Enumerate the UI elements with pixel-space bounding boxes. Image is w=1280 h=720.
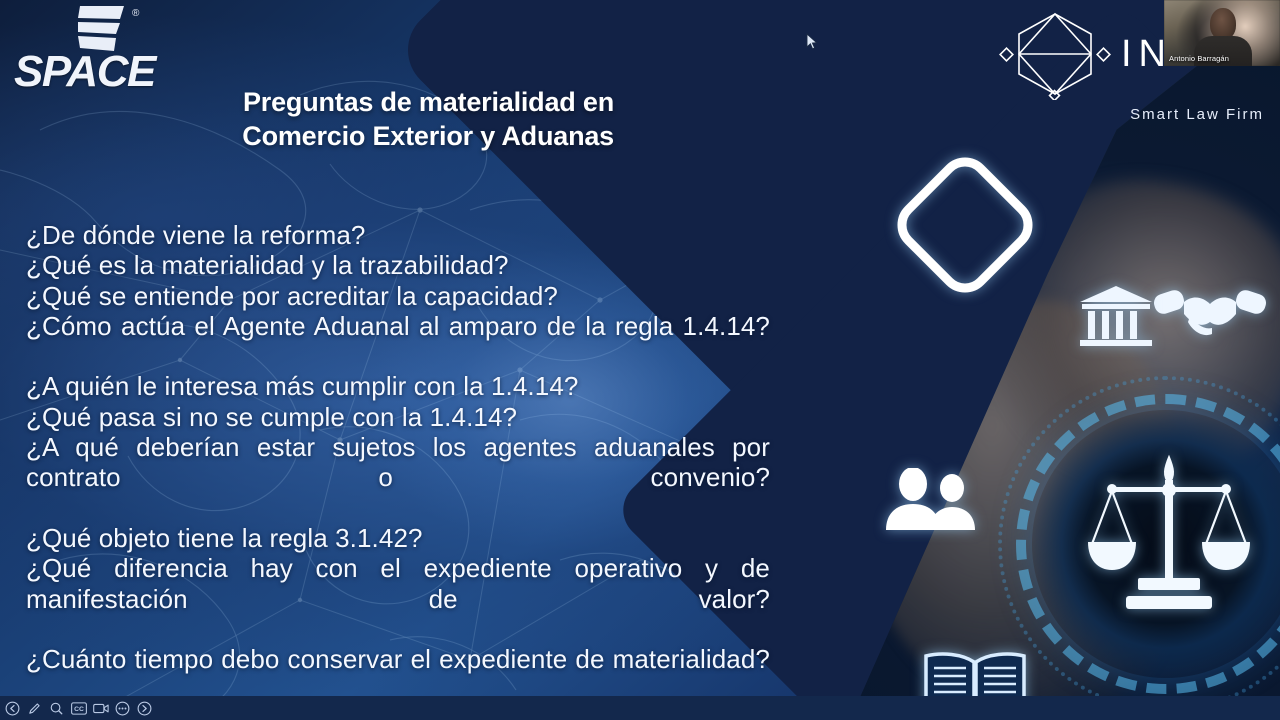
video-thumbnail[interactable]: Antonio Barragán	[1164, 0, 1280, 66]
brand-intra-tagline: Smart Law Firm	[1130, 106, 1264, 123]
scales-of-justice-icon	[1086, 450, 1252, 630]
next-slide-button[interactable]	[135, 699, 154, 718]
camera-icon	[93, 702, 109, 715]
participant-name-label: Antonio Barragán	[1169, 54, 1229, 63]
arrow-left-circle-icon	[5, 701, 20, 716]
page-title: Preguntas de materialidad en Comercio Ex…	[144, 86, 614, 154]
question-item: ¿A quién le interesa más cumplir con la …	[26, 371, 770, 401]
more-options-button[interactable]	[113, 699, 132, 718]
svg-text:®: ®	[132, 8, 140, 19]
zoom-button[interactable]	[47, 699, 66, 718]
magnifier-icon	[49, 701, 64, 716]
mouse-pointer	[806, 33, 818, 51]
previous-slide-button[interactable]	[3, 699, 22, 718]
hexagon-diamond-icon	[999, 8, 1111, 100]
annotate-button[interactable]	[25, 699, 44, 718]
question-item: ¿Qué pasa si no se cumple con la 1.4.14?	[26, 402, 770, 432]
rounded-diamond-outline-icon	[880, 140, 1050, 310]
page-title-line-2: Comercio Exterior y Aduanas	[144, 120, 614, 154]
captions-button[interactable]: CC	[69, 699, 88, 718]
slide-toolbar: CC	[0, 696, 1280, 720]
question-item: ¿Qué diferencia hay con el expediente op…	[26, 553, 770, 644]
question-list: ¿De dónde viene la reforma?¿Qué es la ma…	[26, 220, 770, 720]
page-title-line-1: Preguntas de materialidad en	[144, 86, 614, 120]
arrow-right-circle-icon	[137, 701, 152, 716]
question-item: ¿Qué se entiende por acreditar la capaci…	[26, 281, 770, 311]
cc-icon: CC	[71, 702, 87, 715]
question-item: ¿A qué deberían estar sujetos los agente…	[26, 432, 770, 523]
ellipsis-icon	[115, 701, 130, 716]
svg-text:CC: CC	[74, 706, 84, 713]
brand-space-logo: ® SPACE	[14, 4, 174, 94]
people-group-icon	[880, 468, 984, 534]
question-item: ¿Qué objeto tiene la regla 3.1.42?	[26, 523, 770, 553]
presentation-viewer: ® SPACE INTRA Smart Law Firm Preguntas d…	[0, 0, 1280, 720]
question-item: ¿Cómo actúa el Agente Aduanal al amparo …	[26, 311, 770, 372]
handshake-icon	[1150, 268, 1270, 350]
video-button[interactable]	[91, 699, 110, 718]
courthouse-icon	[1078, 282, 1154, 350]
question-item: ¿De dónde viene la reforma?	[26, 220, 770, 250]
question-item: ¿Qué es la materialidad y la trazabilida…	[26, 250, 770, 280]
pen-icon	[27, 701, 42, 716]
